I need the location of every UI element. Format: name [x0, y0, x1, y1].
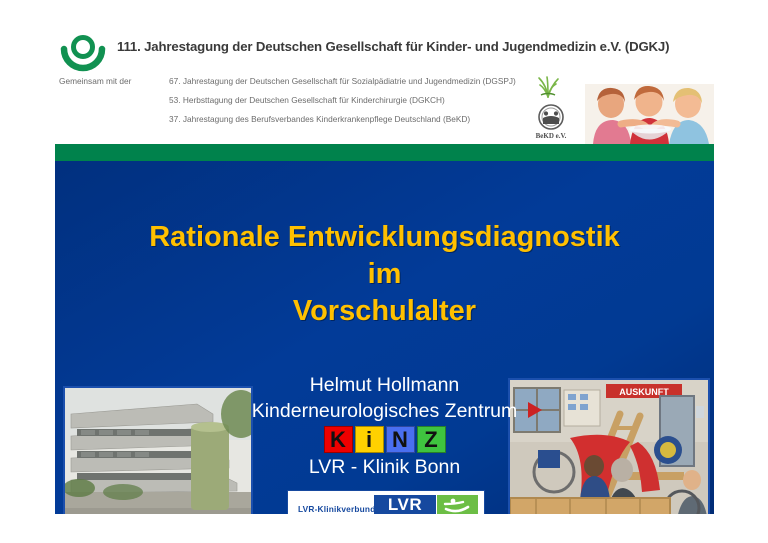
slide-header: 111. Jahrestagung der Deutschen Gesellsc… — [55, 22, 714, 144]
title-line-3: Vorschulalter — [55, 293, 714, 330]
kinz-letter-k: K — [324, 426, 353, 453]
kinz-letter-i: i — [355, 426, 384, 453]
header-line-text: 67. Jahrestagung der Deutschen Gesellsch… — [169, 76, 516, 86]
three-children-photo — [585, 84, 714, 144]
header-title: 111. Jahrestagung der Deutschen Gesellsc… — [117, 39, 707, 54]
author-name: Helmut Hollmann — [55, 372, 714, 398]
slide-body: Rationale Entwicklungsdiagnostik im Vors… — [55, 161, 714, 514]
slide-title: Rationale Entwicklungsdiagnostik im Vors… — [55, 219, 714, 330]
author-institute: Kinderneurologisches Zentrum — [55, 398, 714, 424]
header-subtitle-row: 53. Herbsttagung der Deutschen Gesellsch… — [59, 95, 659, 114]
presentation-slide: 111. Jahrestagung der Deutschen Gesellsc… — [55, 22, 714, 514]
bekd-circle-icon — [533, 100, 569, 134]
lvr-logo: LVR-Klinikverbund LVR Qualität für Mensc… — [287, 490, 485, 514]
lvr-smiley-icon — [437, 495, 478, 514]
kinz-letter-z: Z — [417, 426, 446, 453]
header-subtitle-list: Gemeinsam mit der 67. Jahrestagung der D… — [59, 76, 659, 133]
header-line-text: 37. Jahrestagung des Berufsverbandes Kin… — [169, 114, 470, 124]
header-subtitle-row: Gemeinsam mit der 67. Jahrestagung der D… — [59, 76, 659, 95]
kinz-letter-n: N — [386, 426, 415, 453]
bekd-label: BeKD e.V. — [523, 132, 579, 140]
title-line-1: Rationale Entwicklungsdiagnostik — [55, 219, 714, 256]
lvr-mark-text: LVR — [374, 495, 436, 514]
dgkj-circle-logo-icon — [59, 33, 107, 75]
lvr-mark: LVR Qualität für Menschen — [374, 495, 478, 514]
header-lead-text: Gemeinsam mit der — [59, 76, 131, 86]
lvr-klinikverbund-label: LVR-Klinikverbund — [291, 503, 375, 514]
author-clinic: LVR - Klinik Bonn — [55, 454, 714, 480]
sprout-icon — [533, 74, 563, 98]
green-accent-bar — [55, 144, 714, 161]
header-line-text: 53. Herbsttagung der Deutschen Gesellsch… — [169, 95, 445, 105]
header-subtitle-row: 37. Jahrestagung des Berufsverbandes Kin… — [59, 114, 659, 133]
kinz-logo: K i N Z — [322, 426, 448, 453]
title-line-2: im — [55, 256, 714, 293]
author-block: Helmut Hollmann Kinderneurologisches Zen… — [55, 372, 714, 480]
